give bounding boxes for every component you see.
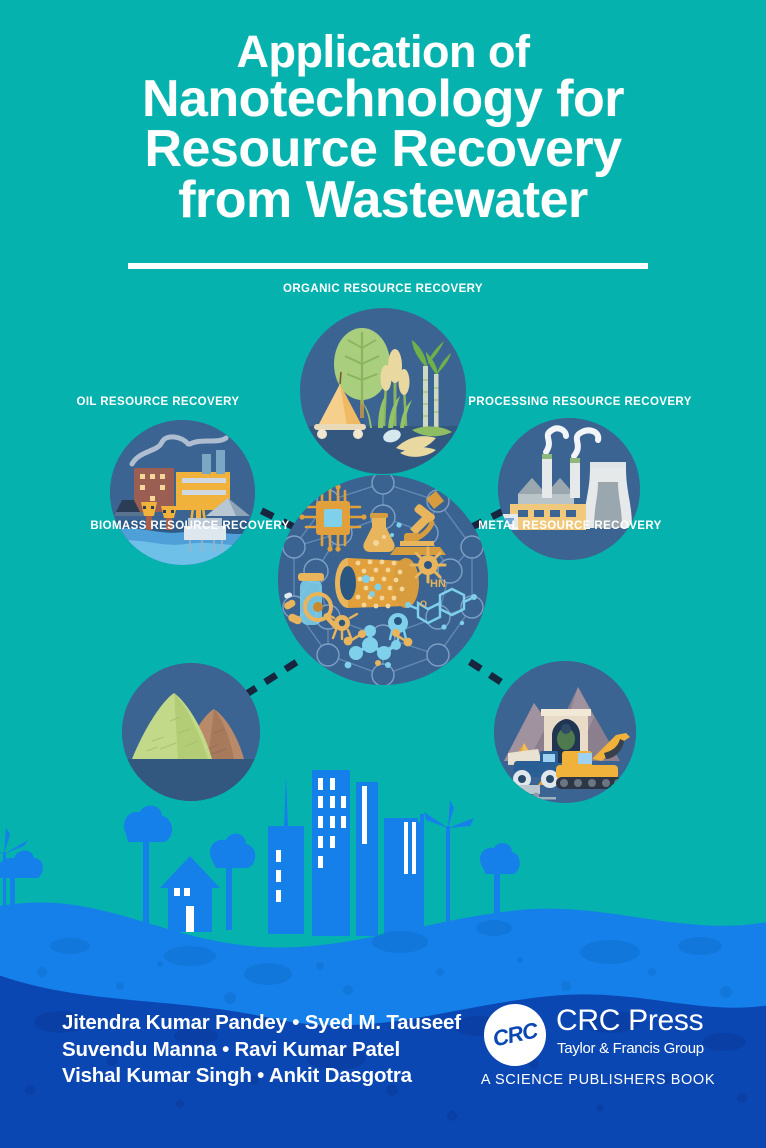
node-label-processing: PROCESSING RESOURCE RECOVERY <box>410 396 750 408</box>
node-label-organic: ORGANIC RESOURCE RECOVERY <box>0 283 766 295</box>
tree-crops-icon <box>300 308 466 474</box>
node-circle-oil[interactable] <box>110 420 255 565</box>
book-cover: Application of Nanotechnology for Resour… <box>0 0 766 1148</box>
node-circle-processing[interactable] <box>498 418 640 560</box>
svg-text:O: O <box>420 599 427 609</box>
biomass-piles-icon <box>122 663 260 801</box>
title-divider-rule <box>128 263 648 269</box>
publisher-tagline: A SCIENCE PUBLISHERS BOOK <box>480 1072 716 1088</box>
virus-icon <box>411 548 445 582</box>
resource-recovery-diagram: ORGANIC RESOURCE RECOVERY <box>0 275 766 835</box>
author-line-3: Vishal Kumar Singh • Ankit Dasgotra <box>62 1063 482 1090</box>
author-line-2: Suvendu Manna • Ravi Kumar Patel <box>62 1037 482 1064</box>
oil-refinery-icon <box>110 420 255 565</box>
node-circle-organic[interactable] <box>300 308 466 474</box>
book-title: Application of Nanotechnology for Resour… <box>0 30 766 225</box>
publisher-name: CRC Press <box>556 1006 703 1036</box>
crc-logo-mark: CRC <box>478 998 552 1072</box>
title-line-1: Application of <box>0 30 766 74</box>
title-line-3: Resource Recovery <box>0 124 766 174</box>
factory-icon <box>498 418 640 560</box>
publisher-group: Taylor & Francis Group <box>557 1040 704 1057</box>
node-circle-biomass[interactable] <box>122 663 260 801</box>
author-line-1: Jitendra Kumar Pandey • Syed M. Tauseef <box>62 1010 482 1037</box>
nanotech-hub-graphic: HN O <box>278 475 488 685</box>
mining-excavator-icon <box>494 661 636 803</box>
author-list: Jitendra Kumar Pandey • Syed M. Tauseef … <box>62 1010 482 1090</box>
carbon-nanotube-icon <box>335 558 419 608</box>
chemical-label-hn: HN <box>430 578 446 590</box>
publisher-logo: CRC CRC Press Taylor & Francis Group A S… <box>484 1002 714 1102</box>
crc-logo-disc: CRC <box>484 1004 546 1066</box>
title-line-4: from Wastewater <box>0 175 766 225</box>
connector-biomass <box>245 658 303 695</box>
title-line-2: Nanotechnology for <box>0 74 766 124</box>
node-label-oil: OIL RESOURCE RECOVERY <box>28 396 288 408</box>
node-circle-metal[interactable] <box>494 661 636 803</box>
center-circle-nanotechnology[interactable]: HN O <box>278 475 488 685</box>
